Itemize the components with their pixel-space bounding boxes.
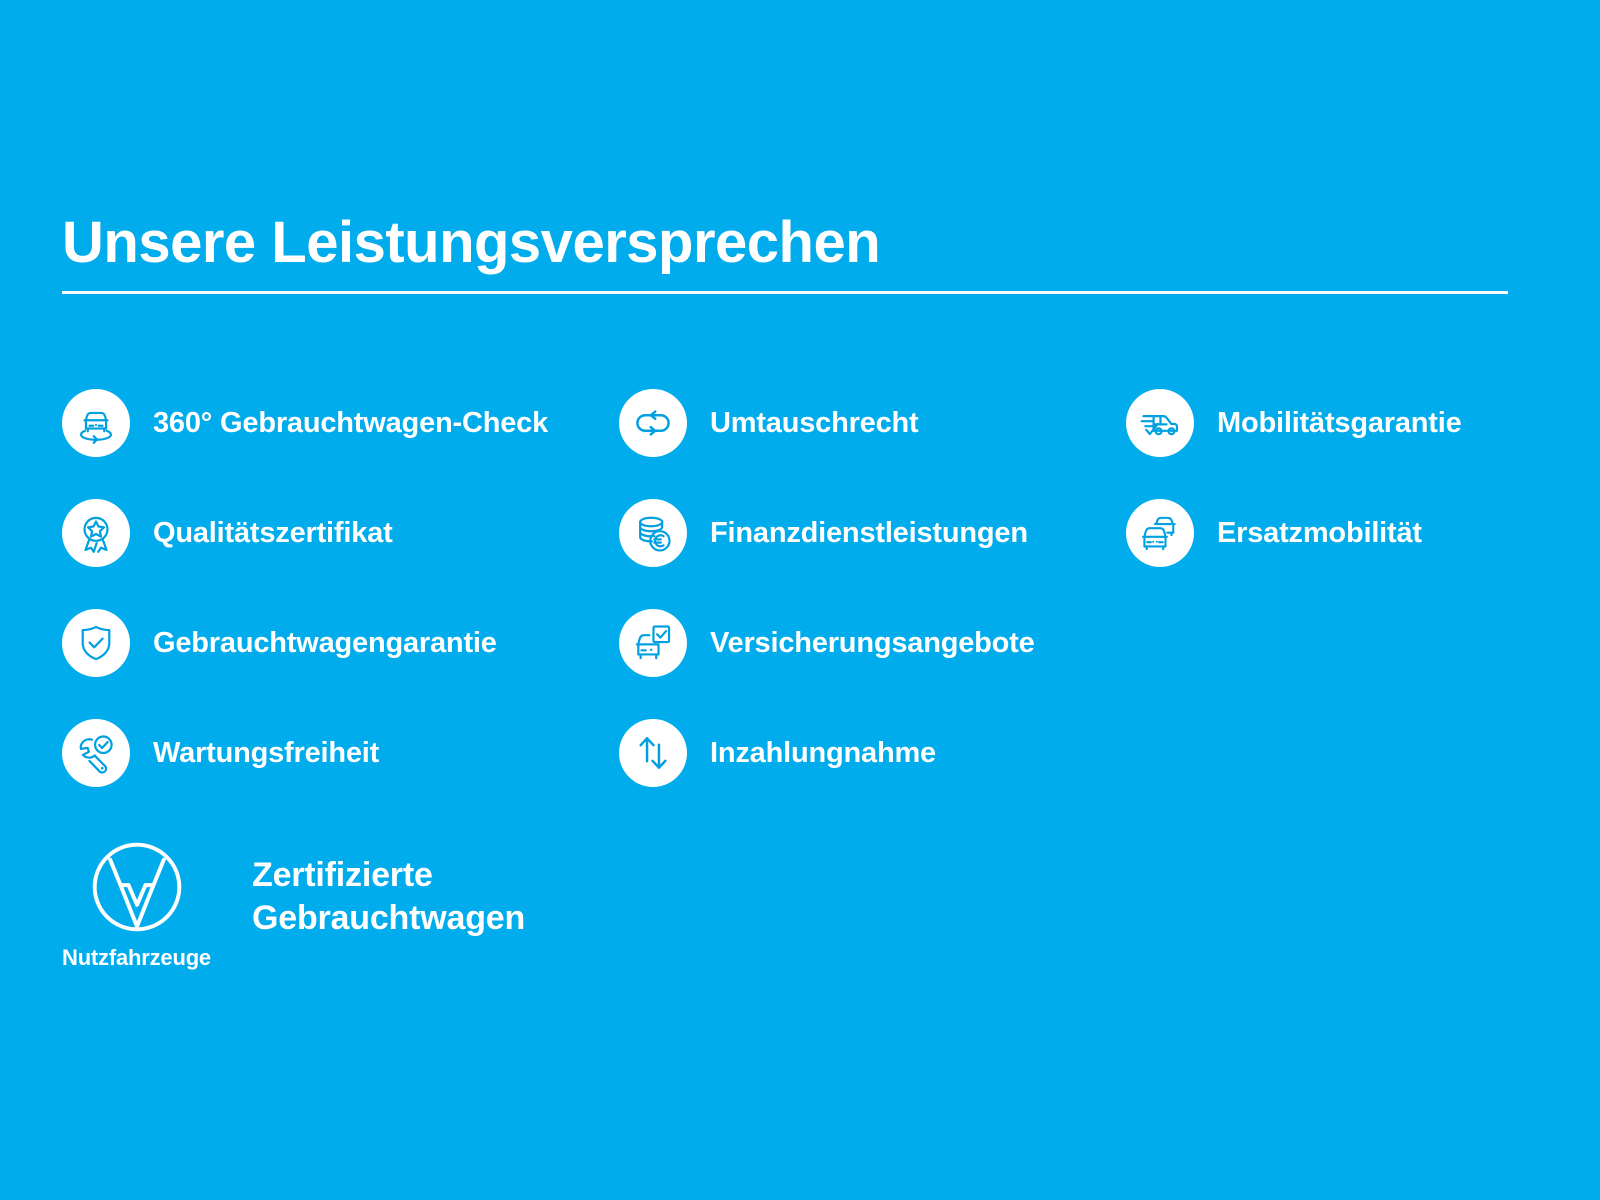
promise-item[interactable]: Wartungsfreiheit: [62, 698, 548, 808]
promise-badge: [619, 609, 687, 677]
promise-badge: [619, 719, 687, 787]
award-rosette-icon: [74, 511, 118, 555]
promise-label: Gebrauchtwagengarantie: [153, 627, 497, 660]
promise-label: Finanzdienstleistungen: [710, 517, 1028, 550]
promise-badge: [619, 499, 687, 567]
promise-label: Mobilitätsgarantie: [1217, 407, 1462, 440]
promise-badge: [62, 389, 130, 457]
promise-item[interactable]: Inzahlungnahme: [619, 698, 1035, 808]
promise-label: Wartungsfreiheit: [153, 737, 379, 770]
arrows-up-down-icon: [631, 731, 675, 775]
title-divider: [62, 291, 1508, 294]
promises-column-3: Mobilitätsgarantie: [1126, 368, 1462, 588]
promises-column-1: 360° Gebrauchtwagen-Check Qualitätszerti…: [62, 368, 548, 808]
brand-claim: Zertifizierte Gebrauchtwagen: [252, 854, 525, 939]
page-title: Unsere Leistungsversprechen: [62, 214, 880, 272]
promise-label: 360° Gebrauchtwagen-Check: [153, 407, 548, 440]
promise-item[interactable]: Versicherungsangebote: [619, 588, 1035, 698]
promise-item[interactable]: Finanzdienstleistungen: [619, 478, 1035, 588]
promise-badge: [62, 499, 130, 567]
promise-badge: [1126, 499, 1194, 567]
promise-label: Qualitätszertifikat: [153, 517, 393, 550]
promise-label: Inzahlungnahme: [710, 737, 936, 770]
exchange-arrows-icon: [631, 401, 675, 445]
promise-item[interactable]: Gebrauchtwagengarantie: [62, 588, 548, 698]
car-checkbox-icon: [631, 621, 675, 665]
promise-label: Ersatzmobilität: [1217, 517, 1422, 550]
promise-item[interactable]: Ersatzmobilität: [1126, 478, 1462, 588]
promises-column-2: Umtauschrecht Finanzdienstleistun: [619, 368, 1035, 808]
promise-item[interactable]: Mobilitätsgarantie: [1126, 368, 1462, 478]
car-360-check-icon: [74, 401, 118, 445]
van-speed-check-icon: [1138, 401, 1182, 445]
brand-lockup: Nutzfahrzeuge Zertifizierte Gebrauchtwag…: [62, 840, 762, 980]
promise-badge: [62, 719, 130, 787]
promise-badge: [62, 609, 130, 677]
coins-euro-icon: [631, 511, 675, 555]
volkswagen-logo-icon: [90, 840, 184, 934]
brand-claim-line-1: Zertifizierte: [252, 854, 525, 897]
brand-subbrand-label: Nutzfahrzeuge: [62, 945, 211, 971]
slide-root: Unsere Leistungsversprechen: [0, 0, 1600, 1200]
shield-check-icon: [74, 621, 118, 665]
promise-badge: [1126, 389, 1194, 457]
promise-label: Umtauschrecht: [710, 407, 919, 440]
promise-item[interactable]: Umtauschrecht: [619, 368, 1035, 478]
wrench-check-icon: [74, 731, 118, 775]
promise-badge: [619, 389, 687, 457]
promise-label: Versicherungsangebote: [710, 627, 1035, 660]
brand-claim-line-2: Gebrauchtwagen: [252, 897, 525, 940]
promise-item[interactable]: 360° Gebrauchtwagen-Check: [62, 368, 548, 478]
two-cars-icon: [1138, 511, 1182, 555]
promise-item[interactable]: Qualitätszertifikat: [62, 478, 548, 588]
